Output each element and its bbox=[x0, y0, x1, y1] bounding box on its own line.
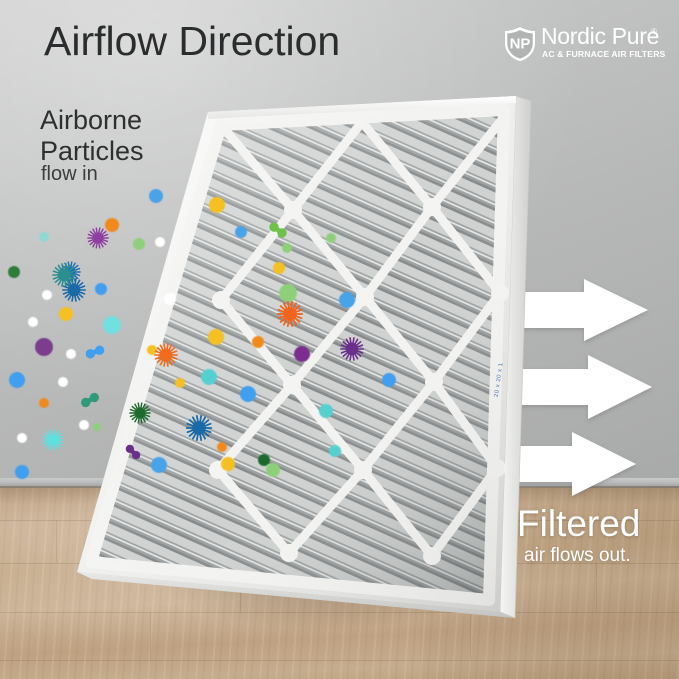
brand-logo: NP Nordic Pure ® AC & FURNACE AIR FILTER… bbox=[503, 24, 661, 64]
particle-dot bbox=[93, 423, 101, 431]
particle-dot bbox=[35, 338, 53, 356]
airborne-callout: Airborne Particles bbox=[40, 105, 144, 167]
particle-dot bbox=[240, 386, 256, 402]
airborne-callout-line1: Airborne bbox=[40, 105, 144, 136]
particle-dot bbox=[39, 232, 49, 242]
particle-dot bbox=[319, 404, 333, 418]
particle-dot bbox=[209, 197, 225, 213]
particle-dot bbox=[149, 189, 163, 203]
particle-germ bbox=[63, 279, 85, 301]
particle-rod bbox=[267, 221, 288, 240]
particle-dot bbox=[326, 233, 336, 243]
particle-dot bbox=[221, 457, 235, 471]
particle-dot bbox=[105, 218, 119, 232]
particle-dot bbox=[252, 336, 264, 348]
infographic-canvas: 20 x 20 x 1 Airflow Direction Airborne P… bbox=[0, 0, 679, 679]
particle-dot bbox=[164, 293, 176, 305]
particle-dot bbox=[279, 284, 297, 302]
registered-mark: ® bbox=[651, 27, 657, 36]
particle-germ bbox=[43, 430, 63, 450]
particle-germ bbox=[155, 344, 177, 366]
particle-dot bbox=[273, 262, 285, 274]
particle-dot bbox=[39, 398, 49, 408]
brand-tagline: AC & FURNACE AIR FILTERS bbox=[542, 49, 665, 59]
particle-dot bbox=[175, 378, 185, 388]
particle-dot bbox=[79, 420, 89, 430]
particle-germ bbox=[88, 228, 108, 248]
particle-dot bbox=[147, 345, 157, 355]
particle-germ bbox=[187, 416, 212, 440]
filtered-callout-sub: air flows out. bbox=[524, 545, 631, 567]
airborne-callout-line3: flow in bbox=[41, 163, 98, 186]
particle-germ bbox=[130, 403, 150, 423]
particle-dot bbox=[151, 457, 167, 473]
particle-rod bbox=[79, 391, 100, 409]
particle-dot bbox=[9, 372, 25, 388]
particle-dot bbox=[294, 346, 310, 362]
brand-name: Nordic Pure bbox=[541, 23, 659, 50]
particle-dot bbox=[208, 329, 224, 345]
particle-dot bbox=[155, 237, 165, 247]
particle-dot bbox=[59, 307, 73, 321]
particle-dot bbox=[282, 243, 292, 253]
shield-icon: NP bbox=[503, 26, 537, 62]
particle-dot bbox=[382, 373, 396, 387]
particle-germ bbox=[278, 302, 303, 326]
particle-dot bbox=[258, 454, 270, 466]
particle-dot bbox=[17, 433, 27, 443]
particle-dot bbox=[8, 266, 20, 278]
particle-dot bbox=[217, 442, 227, 452]
particle-dot bbox=[235, 226, 247, 238]
particle-germ bbox=[341, 338, 363, 360]
particle-dot bbox=[266, 463, 280, 477]
filtered-callout-title: Filtered bbox=[517, 503, 640, 545]
particle-dot bbox=[42, 290, 52, 300]
page-title: Airflow Direction bbox=[44, 18, 340, 65]
particle-dot bbox=[329, 445, 341, 457]
particle-dot bbox=[339, 292, 355, 308]
particle-rod bbox=[84, 344, 105, 360]
particle-rod bbox=[124, 443, 142, 461]
particle-dot bbox=[201, 369, 217, 385]
particle-dot bbox=[133, 238, 145, 250]
brand-monogram: NP bbox=[510, 36, 531, 53]
particle-dot bbox=[66, 349, 76, 359]
particle-dot bbox=[15, 465, 29, 479]
particle-dot bbox=[95, 283, 107, 295]
particle-dot bbox=[28, 317, 38, 327]
airborne-callout-line2: Particles bbox=[40, 136, 144, 167]
particle-dot bbox=[103, 316, 121, 334]
airborne-particle-layer bbox=[0, 0, 679, 679]
particle-dot bbox=[58, 377, 68, 387]
